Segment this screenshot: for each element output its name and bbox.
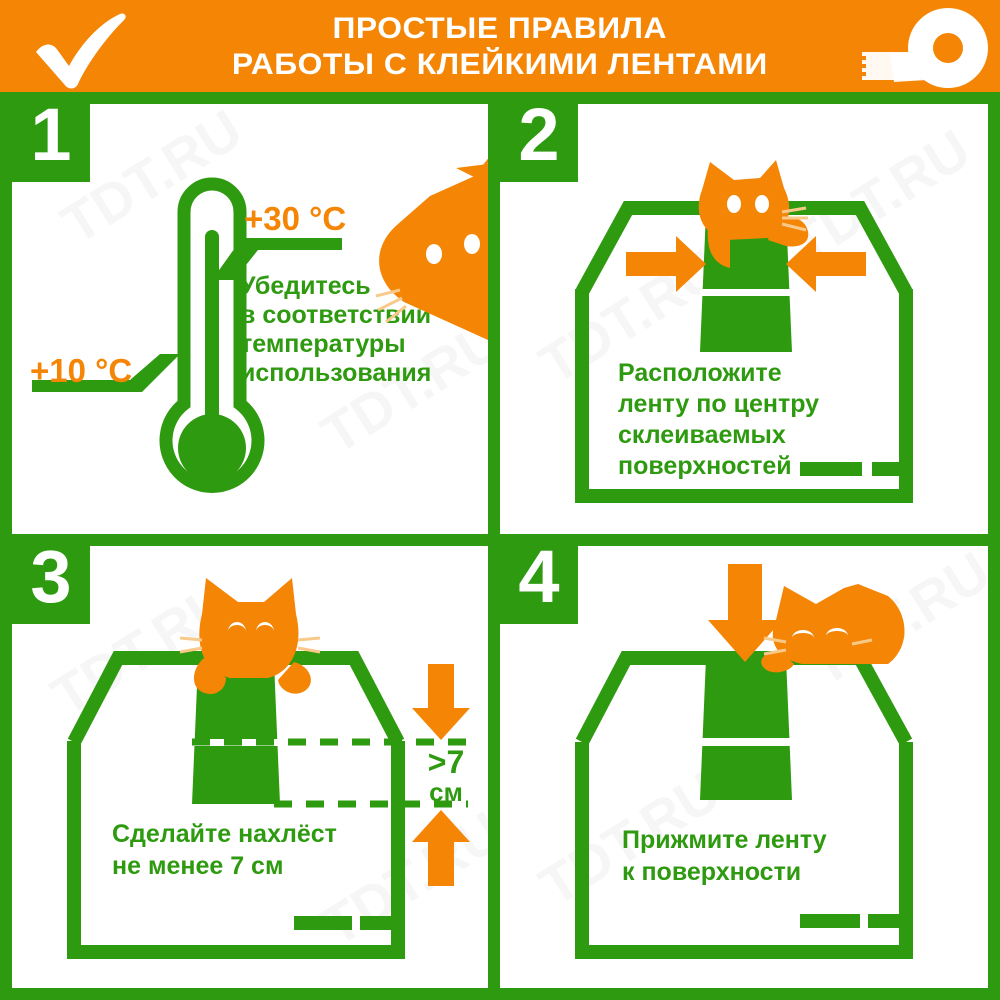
step-number-badge-3: 3 <box>12 546 90 624</box>
title-line-2: РАБОТЫ С КЛЕЙКИМИ ЛЕНТАМИ <box>232 47 768 83</box>
text-line: склеиваемых <box>618 420 918 451</box>
panel-step-2: TDT.RU TDT.RU <box>500 104 988 534</box>
temp-low-label: +10 °C <box>30 352 132 390</box>
tape-roll-icon <box>860 4 990 92</box>
infographic-poster: ПРОСТЫЕ ПРАВИЛА РАБОТЫ С КЛЕЙКИМИ ЛЕНТАМ… <box>0 0 1000 1000</box>
step-number: 4 <box>518 546 559 612</box>
text-line: Сделайте нахлёст <box>112 818 432 850</box>
header-bar: ПРОСТЫЕ ПРАВИЛА РАБОТЫ С КЛЕЙКИМИ ЛЕНТАМ… <box>0 0 1000 92</box>
overlap-measure-label: >7 см <box>410 746 482 806</box>
step-number: 3 <box>30 546 71 612</box>
panel-step-1: TDT.RU TDT.RU +30 °C +10 °C Убедитесь в … <box>12 104 488 534</box>
text-line: Расположите <box>618 358 918 389</box>
step-number: 1 <box>30 104 71 170</box>
cat-sitting-in-box-icon <box>180 568 320 708</box>
step-number: 2 <box>518 104 559 170</box>
title-line-1: ПРОСТЫЕ ПРАВИЛА <box>333 11 667 47</box>
cat-lying-on-box-icon <box>762 582 912 692</box>
text-line: поверхностей <box>618 451 918 482</box>
text-line: к поверхности <box>622 856 922 888</box>
cat-over-box-icon <box>690 156 820 272</box>
text-line: Прижмите ленту <box>622 824 922 856</box>
step-3-text: Сделайте нахлёст не менее 7 см <box>112 818 432 882</box>
panel-step-4: TDT.RU TDT.RU Прижмите ленту к п <box>500 546 988 988</box>
checkmark-icon <box>28 10 138 90</box>
temp-high-label: +30 °C <box>244 200 346 238</box>
panel-step-3: TDT.RU TDT.RU >7 см <box>12 546 488 988</box>
step-number-badge-1: 1 <box>12 104 90 182</box>
arrow-down-icon <box>412 664 470 740</box>
text-line: использования <box>240 359 480 388</box>
cat-face-peeking-icon <box>360 162 488 342</box>
step-2-text: Расположите ленту по центру склеиваемых … <box>618 358 918 482</box>
text-line: не менее 7 см <box>112 850 432 882</box>
text-line: ленту по центру <box>618 389 918 420</box>
step-number-badge-2: 2 <box>500 104 578 182</box>
measure-unit: см <box>410 778 482 806</box>
page-title: ПРОСТЫЕ ПРАВИЛА РАБОТЫ С КЛЕЙКИМИ ЛЕНТАМ… <box>150 8 850 86</box>
step-4-text: Прижмите ленту к поверхности <box>622 824 922 888</box>
measure-value: >7 <box>410 746 482 778</box>
step-number-badge-4: 4 <box>500 546 578 624</box>
